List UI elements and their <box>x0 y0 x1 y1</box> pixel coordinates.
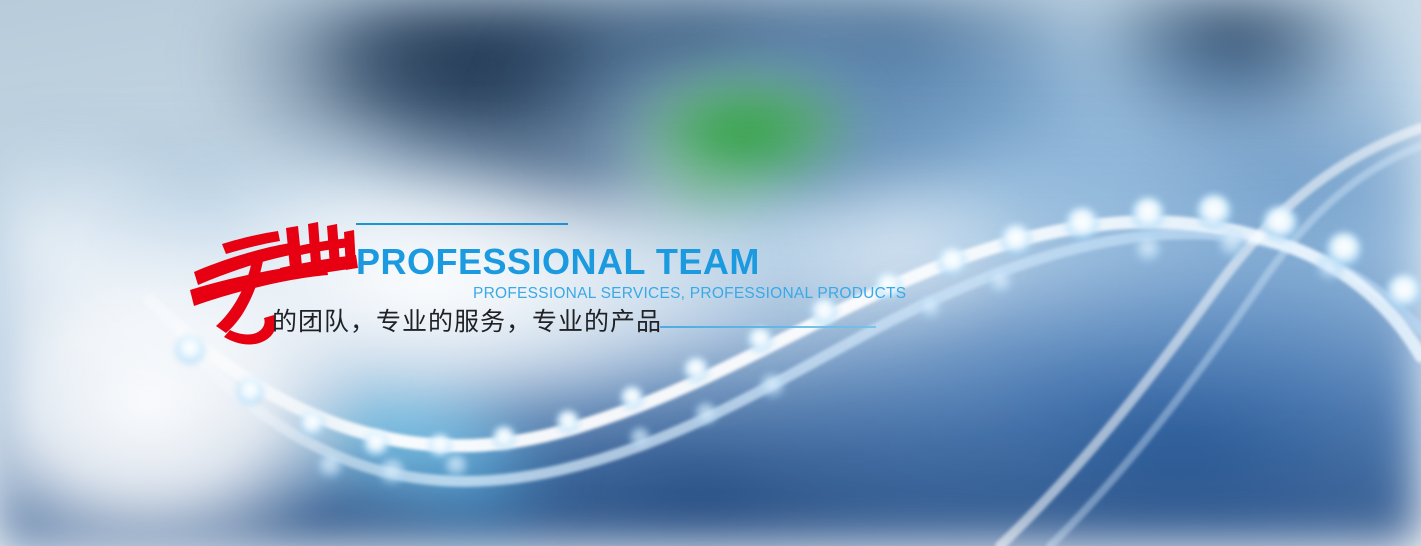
banner-content: PROFESSIONAL TEAM PROFESSIONAL SERVICES,… <box>0 0 1421 546</box>
chinese-tagline: 的团队，专业的服务，专业的产品 <box>272 306 662 338</box>
page-title: PROFESSIONAL TEAM <box>356 243 760 281</box>
bottom-divider-rule <box>660 326 876 328</box>
subtitle-text: PROFESSIONAL SERVICES, PROFESSIONAL PROD… <box>473 285 906 303</box>
top-divider-rule <box>356 223 568 225</box>
professional-team-banner: PROFESSIONAL TEAM PROFESSIONAL SERVICES,… <box>0 0 1421 546</box>
